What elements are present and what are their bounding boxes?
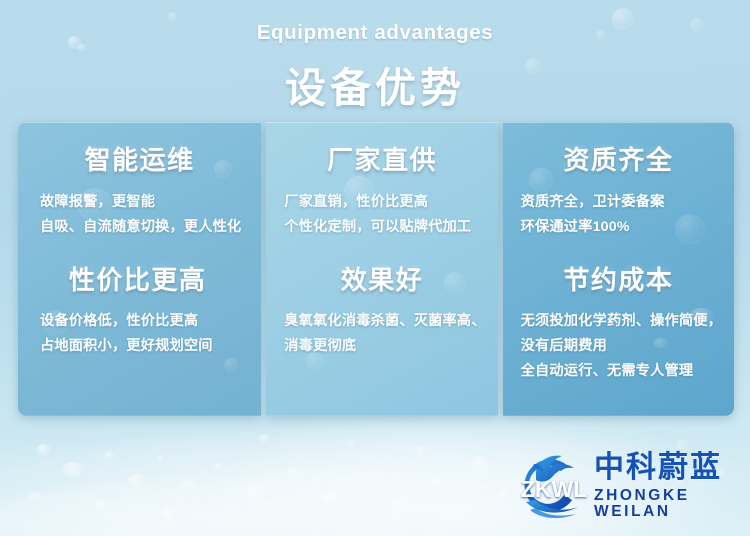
poster-canvas: Equipment advantages 设备优势 智能运维 故障报警，更智能 … <box>0 0 750 536</box>
panel-2-body-1: 厂家直销，性价比更高 个性化定制，可以贴牌代加工 <box>266 190 497 240</box>
dolphin-wave-logo-icon: ZKWL <box>512 450 590 522</box>
page-title: 设备优势 <box>0 54 750 114</box>
panel-3-body-2: 无须投加化学药剂、操作简便， 没有后期费用 全自动运行、无需专人管理 <box>503 309 734 384</box>
panel-1-heading-1: 智能运维 <box>18 146 261 175</box>
panel-1-line-2: 自吸、自流随意切换，更人性化 <box>40 215 261 240</box>
logo-wordmark: 中科蔚蓝 ZHONGKE WEILAN <box>594 453 740 519</box>
panel-3-heading-1: 资质齐全 <box>503 146 734 175</box>
logo-name-cn: 中科蔚蓝 <box>594 453 740 483</box>
panel-3-line-2: 环保通过率100% <box>521 215 734 240</box>
panel-3-line-4: 没有后期费用 <box>521 334 734 359</box>
logo-mark-text: ZKWL <box>520 478 588 501</box>
header-subtitle-en: Equipment advantages <box>0 21 750 45</box>
panel-1-body-1: 故障报警，更智能 自吸、自流随意切换，更人性化 <box>18 190 261 240</box>
panel-2-line-4: 消毒更彻底 <box>284 334 497 359</box>
panel-2-heading-1: 厂家直供 <box>266 146 497 175</box>
advantage-panel-1: 智能运维 故障报警，更智能 自吸、自流随意切换，更人性化 性价比更高 设备价格低… <box>18 122 261 416</box>
panel-1-body-2: 设备价格低，性价比更高 占地面积小，更好规划空间 <box>18 309 261 359</box>
panel-1-line-4: 占地面积小，更好规划空间 <box>40 334 261 359</box>
panel-1-line-1: 故障报警，更智能 <box>40 190 261 215</box>
panel-2-line-3: 臭氧氧化消毒杀菌、灭菌率高、 <box>284 309 497 334</box>
panel-3-body-1: 资质齐全，卫计委备案 环保通过率100% <box>503 190 734 240</box>
logo-name-en: ZHONGKE WEILAN <box>594 488 740 519</box>
company-logo: ZKWL 中科蔚蓝 ZHONGKE WEILAN <box>512 447 740 525</box>
panel-1-line-3: 设备价格低，性价比更高 <box>40 309 261 334</box>
panel-2-body-2: 臭氧氧化消毒杀菌、灭菌率高、 消毒更彻底 <box>266 309 497 359</box>
advantage-panel-3: 资质齐全 资质齐全，卫计委备案 环保通过率100% 节约成本 无须投加化学药剂、… <box>503 122 734 416</box>
panel-3-line-5: 全自动运行、无需专人管理 <box>521 359 734 384</box>
panel-2-heading-2: 效果好 <box>266 266 497 295</box>
panel-3-heading-2: 节约成本 <box>503 266 734 295</box>
panel-3-line-1: 资质齐全，卫计委备案 <box>521 190 734 215</box>
panel-2-line-1: 厂家直销，性价比更高 <box>284 190 497 215</box>
advantage-panel-row: 智能运维 故障报警，更智能 自吸、自流随意切换，更人性化 性价比更高 设备价格低… <box>18 122 734 416</box>
panel-3-line-3: 无须投加化学药剂、操作简便， <box>521 309 734 334</box>
panel-1-heading-2: 性价比更高 <box>18 266 261 295</box>
advantage-panel-2: 厂家直供 厂家直销，性价比更高 个性化定制，可以贴牌代加工 效果好 臭氧氧化消毒… <box>266 122 497 416</box>
poster-header: Equipment advantages 设备优势 <box>0 0 750 114</box>
panel-2-line-2: 个性化定制，可以贴牌代加工 <box>284 215 497 240</box>
